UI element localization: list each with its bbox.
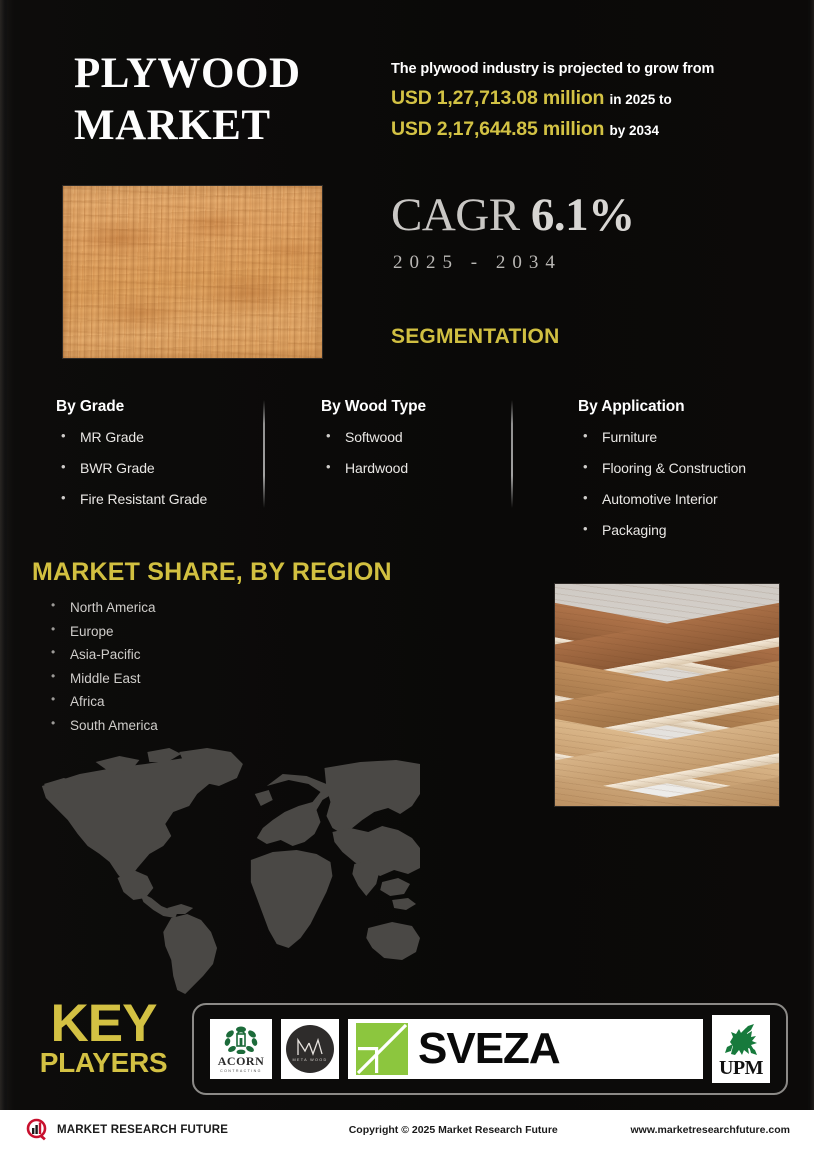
list-item: Automotive Interior	[578, 491, 808, 507]
list-item: South America	[48, 718, 158, 733]
projection-intro: The plywood industry is projected to gro…	[391, 62, 751, 77]
list-item: Hardwood	[321, 460, 521, 476]
footer-copyright: Copyright © 2025 Market Research Future	[276, 1124, 630, 1136]
cagr-label: CAGR	[391, 189, 520, 241]
list-item: Europe	[48, 624, 158, 639]
projection-end-value-row: USD 2,17,644.85 million by 2034	[391, 119, 751, 139]
footer-brand-text: MARKET RESEARCH FUTURE	[57, 1124, 228, 1136]
logo-upm: UPM	[712, 1015, 770, 1083]
list-item: Softwood	[321, 429, 521, 445]
cagr-period: 2025 - 2034	[393, 252, 562, 274]
segmentation-column-grade: By Grade MR Grade BWR Grade Fire Resista…	[56, 398, 256, 522]
list-item: North America	[48, 600, 158, 615]
right-edge-highlight	[808, 0, 814, 1110]
logo-acorn-sub: CONTRACTING	[220, 1069, 262, 1073]
list-item: Middle East	[48, 671, 158, 686]
projection-end-value: USD 2,17,644.85 million	[391, 118, 604, 140]
market-share-heading: MARKET SHARE, BY REGION	[32, 558, 392, 587]
list-item: MR Grade	[56, 429, 256, 445]
plywood-sheet-image	[62, 185, 323, 359]
segmentation-section: By Grade MR Grade BWR Grade Fire Resista…	[56, 398, 776, 548]
projection-block: The plywood industry is projected to gro…	[391, 62, 751, 149]
world-map-svg	[22, 742, 420, 1000]
segmentation-column-application: By Application Furniture Flooring & Cons…	[578, 398, 808, 553]
logo-upm-wordmark: UPM	[719, 1058, 763, 1078]
mw-monogram-icon	[295, 1037, 325, 1057]
left-edge-highlight	[0, 0, 7, 1110]
projection-start-year: in 2025 to	[609, 92, 671, 107]
segmentation-list: Furniture Flooring & Construction Automo…	[578, 429, 808, 538]
logo-meta-wood-sub: META WOOD	[292, 1058, 327, 1062]
projection-end-year: by 2034	[609, 123, 659, 138]
footer-brand: MARKET RESEARCH FUTURE	[26, 1118, 276, 1142]
sveza-mark-icon	[356, 1023, 408, 1075]
projection-start-value-row: USD 1,27,713.08 million in 2025 to	[391, 88, 751, 108]
griffin-icon	[721, 1020, 761, 1058]
segmentation-column-title: By Wood Type	[321, 398, 521, 416]
title-line-1: PLYWOOD	[74, 50, 301, 97]
segmentation-column-title: By Application	[578, 398, 808, 416]
segmentation-heading: SEGMENTATION	[391, 325, 559, 349]
list-item: Fire Resistant Grade	[56, 491, 256, 507]
key-players-logo-box: ACORN CONTRACTING META WOOD	[192, 1003, 788, 1095]
segmentation-divider-1	[263, 400, 265, 508]
world-map	[22, 742, 420, 1000]
key-players-line-2: PLAYERS	[26, 1049, 181, 1077]
segmentation-list: MR Grade BWR Grade Fire Resistant Grade	[56, 429, 256, 507]
list-item: Flooring & Construction	[578, 460, 808, 476]
list-item: Africa	[48, 694, 158, 709]
key-players-line-1: KEY	[26, 1000, 181, 1049]
logo-sveza: SVEZA	[348, 1019, 703, 1079]
segmentation-column-wood-type: By Wood Type Softwood Hardwood	[321, 398, 521, 491]
wreath-icon	[224, 1026, 258, 1054]
key-players-heading: KEY PLAYERS	[26, 1000, 181, 1077]
meta-wood-circle: META WOOD	[286, 1025, 334, 1073]
list-item: Asia-Pacific	[48, 647, 158, 662]
region-list: North America Europe Asia-Pacific Middle…	[48, 600, 158, 741]
infographic-page: PLYWOOD MARKET The plywood industry is p…	[0, 0, 814, 1150]
list-item: Packaging	[578, 522, 808, 538]
title-line-2: MARKET	[74, 100, 374, 152]
segmentation-column-title: By Grade	[56, 398, 256, 416]
cagr-block: CAGR 6.1%	[391, 192, 635, 239]
projection-start-value: USD 1,27,713.08 million	[391, 87, 604, 109]
market-research-future-logo-icon	[26, 1118, 50, 1142]
logo-acorn-name: ACORN	[218, 1055, 265, 1067]
list-item: Furniture	[578, 429, 808, 445]
footer-url[interactable]: www.marketresearchfuture.com	[630, 1124, 790, 1136]
logo-sveza-wordmark: SVEZA	[418, 1027, 560, 1071]
world-map-continents	[42, 748, 420, 994]
plywood-stack-image	[554, 583, 780, 807]
logo-meta-wood: META WOOD	[281, 1019, 339, 1079]
list-item: BWR Grade	[56, 460, 256, 476]
logo-acorn: ACORN CONTRACTING	[210, 1019, 272, 1079]
page-title: PLYWOOD MARKET	[74, 48, 374, 153]
segmentation-list: Softwood Hardwood	[321, 429, 521, 476]
cagr-value: 6.1%	[531, 189, 635, 241]
footer: MARKET RESEARCH FUTURE Copyright © 2025 …	[0, 1110, 814, 1150]
